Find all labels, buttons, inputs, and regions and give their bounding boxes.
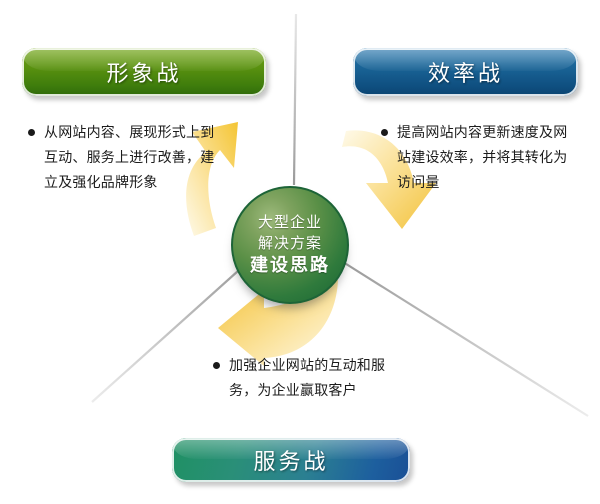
node-button-efficiency-war[interactable]: 效率战 <box>353 48 578 96</box>
bullet-dot-icon <box>381 129 388 136</box>
node-label-efficiency-war: 效率战 <box>428 56 503 88</box>
center-line-2: 解决方案 <box>258 233 322 254</box>
node-label-image-war: 形象战 <box>106 56 181 88</box>
bullet-dot-icon <box>213 362 220 369</box>
node-button-image-war[interactable]: 形象战 <box>22 48 266 96</box>
guide-line-top <box>294 14 296 185</box>
bullet-block-image-war: 从网站内容、展现形式上到互动、服务上进行改善，建立及强化品牌形象 <box>28 121 218 196</box>
bullet-dot-icon <box>28 129 35 136</box>
bullet-block-service-war: 加强企业网站的互动和服务，为企业赢取客户 <box>213 354 403 404</box>
node-label-service-war: 服务战 <box>253 444 328 476</box>
diagram-canvas: 形象战 效率战 服务战 大型企业 解决方案 建设思路 从网站内容、展现形式上到互… <box>0 0 600 504</box>
bullet-text-efficiency-war: 提高网站内容更新速度及网站建设效率，并将其转化为访问量 <box>397 121 577 196</box>
bullet-block-efficiency-war: 提高网站内容更新速度及网站建设效率，并将其转化为访问量 <box>381 121 577 196</box>
center-circle-node[interactable]: 大型企业 解决方案 建设思路 <box>231 186 349 304</box>
center-line-3: 建设思路 <box>250 254 330 278</box>
center-line-1: 大型企业 <box>258 212 322 233</box>
bullet-text-service-war: 加强企业网站的互动和服务，为企业赢取客户 <box>229 354 403 404</box>
node-button-service-war[interactable]: 服务战 <box>172 438 410 482</box>
bullet-text-image-war: 从网站内容、展现形式上到互动、服务上进行改善，建立及强化品牌形象 <box>44 121 218 196</box>
